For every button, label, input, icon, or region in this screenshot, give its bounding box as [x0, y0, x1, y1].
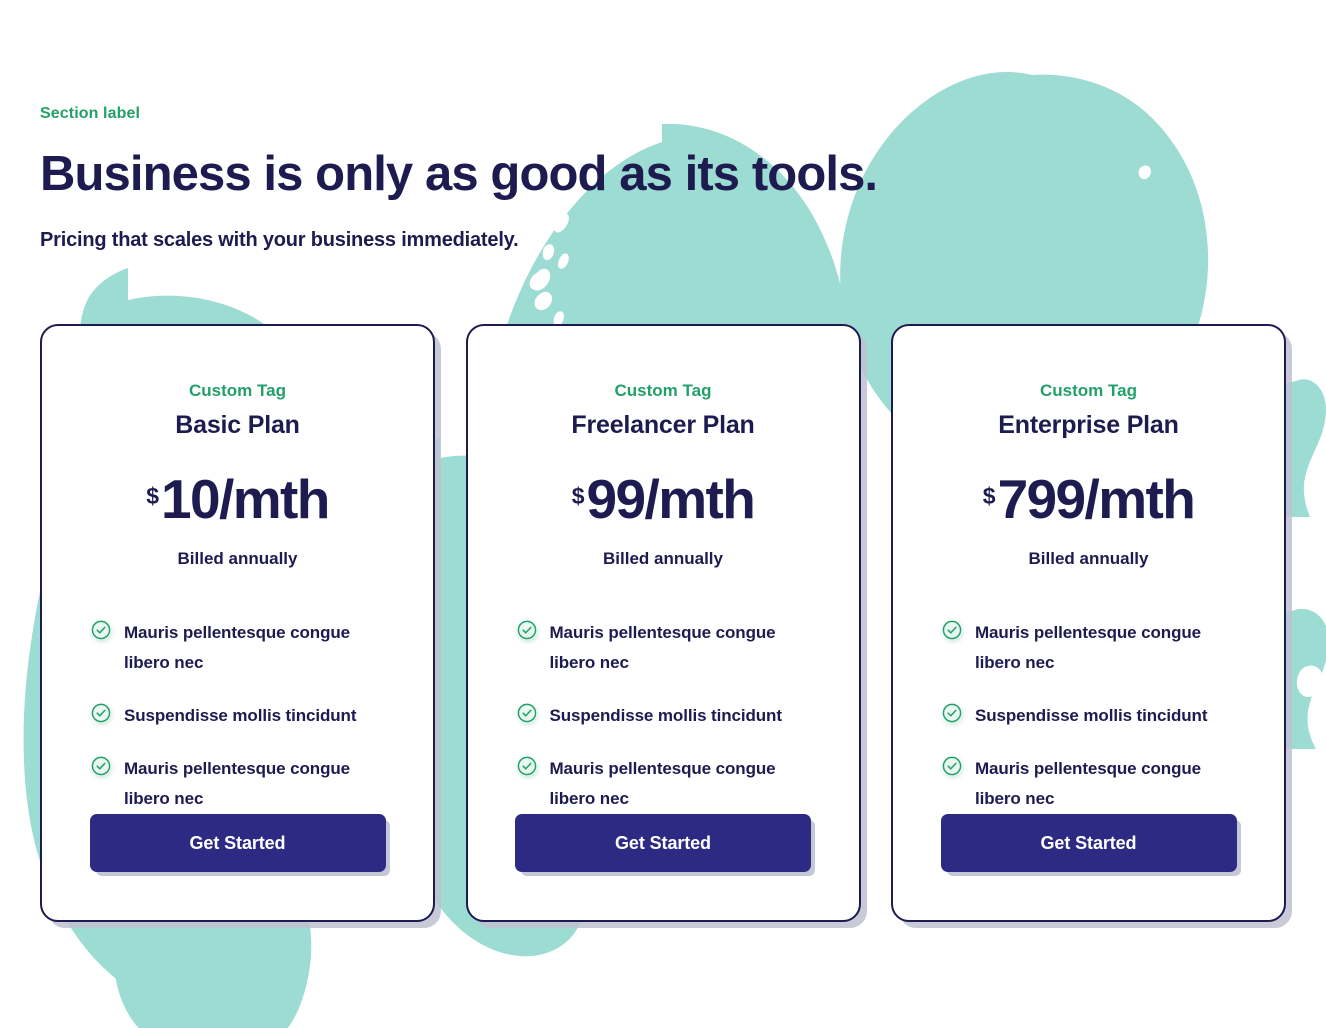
get-started-button[interactable]: Get Started: [90, 814, 386, 872]
plan-name: Basic Plan: [175, 410, 299, 440]
check-circle-icon: [517, 756, 537, 776]
list-item: Mauris pellentesque congue libero nec: [91, 618, 399, 678]
feature-text: Mauris pellentesque congue libero nec: [550, 754, 825, 814]
section-label: Section label: [40, 104, 877, 124]
page-subtitle: Pricing that scales with your business i…: [40, 227, 877, 253]
plan-price: 10/mth: [161, 471, 329, 527]
check-circle-icon: [942, 756, 962, 776]
page-header: Section label Business is only as good a…: [40, 104, 877, 253]
get-started-button[interactable]: Get Started: [941, 814, 1237, 872]
blob-speckle: [530, 269, 551, 291]
currency-symbol: $: [572, 485, 585, 508]
feature-text: Mauris pellentesque congue libero nec: [124, 754, 399, 814]
feature-list: Mauris pellentesque congue libero nec Su…: [72, 618, 403, 814]
list-item: Mauris pellentesque congue libero nec: [942, 618, 1250, 678]
currency-symbol: $: [983, 485, 996, 508]
pricing-card-freelancer[interactable]: Custom Tag Freelancer Plan $ 99/mth Bill…: [466, 324, 861, 922]
feature-text: Suspendisse mollis tincidunt: [550, 701, 782, 731]
currency-symbol: $: [146, 485, 159, 508]
check-circle-icon: [517, 703, 537, 723]
feature-text: Mauris pellentesque congue libero nec: [124, 618, 399, 678]
list-item: Mauris pellentesque congue libero nec: [942, 754, 1250, 814]
page-title: Business is only as good as its tools.: [40, 146, 877, 202]
blob-speckle: [535, 292, 553, 310]
pricing-page: Section label Business is only as good a…: [0, 0, 1326, 1028]
list-item: Mauris pellentesque congue libero nec: [517, 754, 825, 814]
list-item: Suspendisse mollis tincidunt: [942, 701, 1250, 731]
check-circle-icon: [942, 620, 962, 640]
pricing-card-basic[interactable]: Custom Tag Basic Plan $ 10/mth Billed an…: [40, 324, 435, 922]
feature-list: Mauris pellentesque congue libero nec Su…: [498, 618, 829, 814]
plan-price: 99/mth: [587, 471, 755, 527]
feature-text: Mauris pellentesque congue libero nec: [975, 754, 1250, 814]
list-item: Suspendisse mollis tincidunt: [517, 701, 825, 731]
check-circle-icon: [91, 620, 111, 640]
billing-note: Billed annually: [603, 548, 723, 570]
feature-text: Suspendisse mollis tincidunt: [975, 701, 1207, 731]
plan-name: Freelancer Plan: [571, 410, 754, 440]
check-circle-icon: [942, 703, 962, 723]
pricing-card-list: Custom Tag Basic Plan $ 10/mth Billed an…: [40, 324, 1286, 922]
check-circle-icon: [91, 756, 111, 776]
plan-tag: Custom Tag: [189, 380, 286, 402]
feature-text: Mauris pellentesque congue libero nec: [550, 618, 825, 678]
list-item: Mauris pellentesque congue libero nec: [91, 754, 399, 814]
billing-note: Billed annually: [1029, 548, 1149, 570]
plan-price-row: $ 99/mth: [572, 471, 754, 527]
list-item: Mauris pellentesque congue libero nec: [517, 618, 825, 678]
plan-tag: Custom Tag: [615, 380, 712, 402]
feature-list: Mauris pellentesque congue libero nec Su…: [923, 618, 1254, 814]
blob-speckle: [1139, 165, 1151, 179]
pricing-card-enterprise[interactable]: Custom Tag Enterprise Plan $ 799/mth Bil…: [891, 324, 1286, 922]
check-circle-icon: [517, 620, 537, 640]
blob-speckle: [1297, 666, 1323, 697]
plan-tag: Custom Tag: [1040, 380, 1137, 402]
check-circle-icon: [91, 703, 111, 723]
plan-price-row: $ 10/mth: [146, 471, 328, 527]
feature-text: Mauris pellentesque congue libero nec: [975, 618, 1250, 678]
billing-note: Billed annually: [178, 548, 298, 570]
plan-name: Enterprise Plan: [998, 410, 1178, 440]
get-started-button[interactable]: Get Started: [515, 814, 811, 872]
blob-speckle: [558, 254, 569, 269]
plan-price: 799/mth: [998, 471, 1195, 527]
list-item: Suspendisse mollis tincidunt: [91, 701, 399, 731]
feature-text: Suspendisse mollis tincidunt: [124, 701, 356, 731]
plan-price-row: $ 799/mth: [983, 471, 1194, 527]
